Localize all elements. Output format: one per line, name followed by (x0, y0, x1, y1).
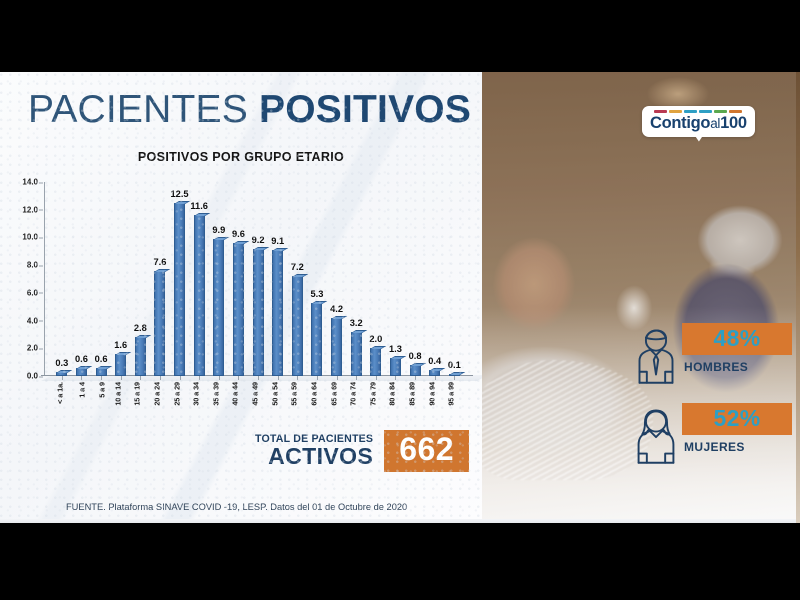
gender-percent-badge: 48% (682, 323, 792, 355)
bar-value-label: 1.3 (389, 344, 402, 354)
bar-slot: 4.265 a 69 (327, 182, 347, 376)
bar-slot: 2.075 a 79 (366, 182, 386, 376)
x-axis-tick (81, 376, 82, 380)
logo-dashes (650, 110, 747, 113)
bar-slot: 12.525 a 29 (170, 182, 190, 376)
bar-value-label: 7.2 (291, 262, 304, 272)
x-axis-tick (180, 376, 181, 380)
x-axis-tick (140, 376, 141, 380)
chart-bar[interactable]: 4.2 (331, 318, 342, 376)
bar-value-label: 3.2 (350, 318, 363, 328)
x-axis-tick (258, 376, 259, 380)
logo-dash (654, 110, 667, 113)
chart-bar[interactable]: 0.6 (76, 368, 87, 376)
gender-stat-body: 48% HOMBRES (682, 323, 792, 374)
contigo-al-100-logo: Contigoal100 (642, 106, 755, 137)
total-word: ACTIVOS (255, 445, 373, 468)
chart-bar[interactable]: 3.2 (351, 332, 362, 376)
logo-dash (684, 110, 697, 113)
bar-slot: 1.610 a 14 (111, 182, 131, 376)
x-axis-tick (376, 376, 377, 380)
bar-value-label: 0.4 (428, 356, 441, 366)
slide-bottom-edge (0, 519, 800, 523)
bar-slot: 2.815 a 19 (131, 182, 151, 376)
bar-value-label: 0.3 (55, 358, 68, 368)
chart-bar[interactable]: 7.2 (292, 276, 303, 376)
bar-slot: 7.620 a 24 (150, 182, 170, 376)
bar-value-label: 9.1 (271, 236, 284, 246)
page-title: PACIENTES POSITIVOS (28, 90, 471, 129)
bar-value-label: 5.3 (310, 289, 323, 299)
bar-slot: 9.640 a 44 (229, 182, 249, 376)
presentation-slide: PACIENTES POSITIVOS POSITIVOS POR GRUPO … (0, 72, 800, 523)
chart-bar[interactable]: 0.8 (410, 365, 421, 376)
y-axis-tick: 14.0 (22, 178, 44, 187)
total-active-patients: TOTAL DE PACIENTES ACTIVOS 662 (255, 430, 469, 472)
bar-chart: 0.02.04.06.08.010.012.014.0 0.3< a 1a.0.… (6, 178, 476, 418)
man-icon (634, 327, 678, 389)
gender-stat-mujeres: 52% MUJERES (634, 403, 792, 469)
bar-value-label: 11.6 (190, 201, 208, 211)
chart-bar[interactable]: 1.6 (115, 354, 126, 376)
y-axis-tick: 12.0 (22, 205, 44, 214)
bar-slot: 0.61 a 4 (72, 182, 92, 376)
left-content-panel: PACIENTES POSITIVOS POSITIVOS POR GRUPO … (0, 72, 482, 523)
page-title-light: PACIENTES (28, 88, 248, 131)
bar-slot: 7.255 a 59 (288, 182, 308, 376)
chart-bar[interactable]: 5.3 (311, 303, 322, 376)
x-axis-tick (199, 376, 200, 380)
gender-percent-badge: 52% (682, 403, 792, 435)
x-axis-tick (121, 376, 122, 380)
bar-value-label: 2.8 (134, 323, 147, 333)
logo-word-contigo: Contigo (650, 114, 710, 132)
logo-text: Contigoal100 (650, 115, 747, 132)
x-axis-tick (238, 376, 239, 380)
logo-word-al: al (710, 116, 720, 131)
photo-panel: Contigoal100 48% HOMBRE (482, 72, 800, 523)
chart-bar[interactable]: 1.3 (390, 358, 401, 376)
chart-bar[interactable]: 9.2 (253, 249, 264, 376)
x-axis-category-label: 35 a 39 (211, 382, 220, 406)
bar-slot: 0.195 a 99 (445, 182, 465, 376)
chart-bar[interactable]: 9.9 (213, 239, 224, 376)
bar-value-label: 7.6 (153, 257, 166, 267)
bar-value-label: 0.1 (448, 360, 461, 370)
bar-slot: 0.3< a 1a. (52, 182, 72, 376)
bar-slot: 9.935 a 39 (209, 182, 229, 376)
chart-bar[interactable]: 11.6 (194, 215, 205, 376)
x-axis-category-label: 25 a 29 (172, 382, 181, 406)
chart-bar[interactable]: 12.5 (174, 203, 185, 376)
gender-stat-body: 52% MUJERES (682, 403, 792, 454)
x-axis-tick (62, 376, 63, 380)
chart-bars: 0.3< a 1a.0.61 a 40.65 a 91.610 a 142.81… (44, 182, 468, 376)
y-axis-tick: 10.0 (22, 233, 44, 242)
x-axis-tick (337, 376, 338, 380)
bar-slot: 9.150 a 54 (268, 182, 288, 376)
chart-title: POSITIVOS POR GRUPO ETARIO (0, 150, 482, 164)
logo-dash (729, 110, 742, 113)
x-axis-category-label: 40 a 44 (231, 382, 240, 406)
x-axis-tick (435, 376, 436, 380)
x-axis-category-label: 20 a 24 (153, 382, 162, 406)
bar-slot: 11.630 a 34 (189, 182, 209, 376)
x-axis-tick (160, 376, 161, 380)
photo-striped-shirt (482, 360, 653, 480)
x-axis-category-label: 10 a 14 (113, 382, 122, 406)
x-axis-tick (317, 376, 318, 380)
bar-slot: 0.490 a 94 (425, 182, 445, 376)
bar-slot: 0.885 a 89 (405, 182, 425, 376)
x-axis-category-label: 5 a 9 (98, 382, 107, 398)
bar-value-label: 0.6 (95, 354, 108, 364)
bar-value-label: 2.0 (369, 334, 382, 344)
bar-value-label: 9.6 (232, 229, 245, 239)
total-value-badge: 662 (384, 430, 469, 472)
x-axis-category-label: 80 a 84 (388, 382, 397, 406)
bar-slot: 5.360 a 64 (307, 182, 327, 376)
bar-slot: 0.65 a 9 (91, 182, 111, 376)
x-axis-tick (219, 376, 220, 380)
y-axis-tick: 2.0 (27, 344, 44, 353)
bar-value-label: 0.6 (75, 354, 88, 364)
x-axis-category-label: 55 a 59 (290, 382, 299, 406)
x-axis-tick (395, 376, 396, 380)
chart-plot-area: 0.02.04.06.08.010.012.014.0 0.3< a 1a.0.… (44, 182, 468, 376)
logo-word-100: 100 (720, 114, 747, 132)
chart-bar[interactable]: 9.1 (272, 250, 283, 376)
gender-label: HOMBRES (684, 360, 792, 374)
x-axis-category-label: 85 a 89 (408, 382, 417, 406)
x-axis-category-label: 15 a 19 (133, 382, 142, 406)
x-axis-category-label: 70 a 74 (349, 382, 358, 406)
x-axis-tick (297, 376, 298, 380)
total-text: TOTAL DE PACIENTES ACTIVOS (255, 434, 373, 468)
x-axis-tick (278, 376, 279, 380)
logo-dash (699, 110, 712, 113)
source-note: FUENTE. Plataforma SINAVE COVID -19, LES… (66, 502, 407, 512)
y-axis-tick: 0.0 (27, 372, 44, 381)
logo-dash (714, 110, 727, 113)
gender-label: MUJERES (684, 440, 792, 454)
slide-right-edge (796, 72, 800, 523)
logo-dash (669, 110, 682, 113)
x-axis-tick (356, 376, 357, 380)
x-axis-category-label: 50 a 54 (270, 382, 279, 406)
x-axis-category-label: 65 a 69 (329, 382, 338, 406)
y-axis-tick: 6.0 (27, 288, 44, 297)
chart-bar[interactable]: 2.8 (135, 337, 146, 376)
x-axis-category-label: 1 a 4 (78, 382, 87, 398)
bar-value-label: 0.8 (409, 351, 422, 361)
bar-slot: 9.245 a 49 (248, 182, 268, 376)
x-axis-category-label: 30 a 34 (192, 382, 201, 406)
y-axis-tick: 4.0 (27, 316, 44, 325)
x-axis-category-label: 75 a 79 (368, 382, 377, 406)
bar-slot: 3.270 a 74 (346, 182, 366, 376)
x-axis-category-label: 60 a 64 (310, 382, 319, 406)
bar-value-label: 9.9 (212, 225, 225, 235)
x-axis-category-label: 45 a 49 (251, 382, 260, 406)
x-axis-category-label: 95 a 99 (447, 382, 456, 406)
bar-value-label: 4.2 (330, 304, 343, 314)
chart-bar[interactable]: 2.0 (370, 348, 381, 376)
x-axis-category-label: 90 a 94 (427, 382, 436, 406)
bar-value-label: 9.2 (252, 235, 265, 245)
x-axis-tick (415, 376, 416, 380)
x-axis-tick (454, 376, 455, 380)
chart-bar[interactable]: 9.6 (233, 243, 244, 376)
bar-value-label: 12.5 (171, 189, 189, 199)
screenshot-root: PACIENTES POSITIVOS POSITIVOS POR GRUPO … (0, 0, 800, 600)
chart-bar[interactable]: 0.6 (96, 368, 107, 376)
bar-slot: 1.380 a 84 (386, 182, 406, 376)
woman-icon (634, 407, 678, 469)
y-axis-tick: 8.0 (27, 261, 44, 270)
chart-bar[interactable]: 7.6 (154, 271, 165, 376)
gender-stat-hombres: 48% HOMBRES (634, 323, 792, 389)
x-axis-tick (101, 376, 102, 380)
bar-value-label: 1.6 (114, 340, 127, 350)
page-title-bold: POSITIVOS (259, 88, 471, 131)
x-axis-category-label: < a 1a. (55, 382, 64, 404)
